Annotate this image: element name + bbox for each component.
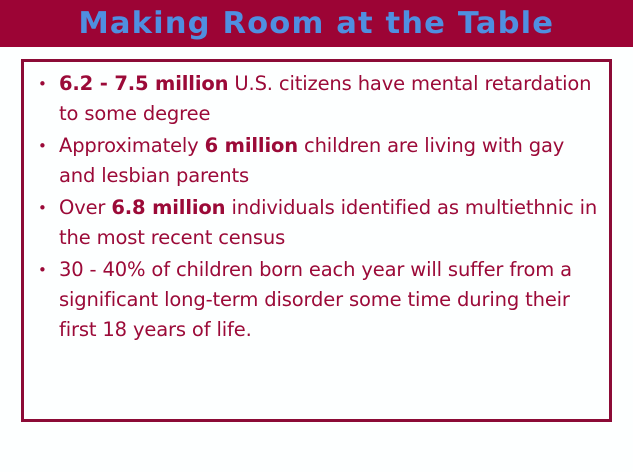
- bullet-dot-icon: •: [38, 69, 56, 99]
- slide: Making Room at the Table • 6.2 - 7.5 mil…: [0, 0, 633, 472]
- bullet-dot-icon: •: [38, 255, 56, 285]
- content-body-box: • 6.2 - 7.5 million U.S. citizens have m…: [21, 59, 612, 422]
- bullet-list: • 6.2 - 7.5 million U.S. citizens have m…: [30, 69, 603, 345]
- title-banner: Making Room at the Table: [0, 0, 633, 47]
- list-item: • Over 6.8 million individuals identifie…: [30, 193, 603, 253]
- slide-title: Making Room at the Table: [79, 9, 555, 39]
- bullet-prefix: Over: [59, 196, 111, 219]
- bullet-emphasis: 6.2 - 7.5 million: [59, 72, 228, 95]
- list-item: • Approximately 6 million children are l…: [30, 131, 603, 191]
- bullet-prefix: Approximately: [59, 134, 205, 157]
- bullet-emphasis: 6.8 million: [111, 196, 225, 219]
- bullet-text: 30 - 40% of children born each year will…: [59, 258, 572, 341]
- bullet-dot-icon: •: [38, 131, 56, 161]
- bullet-emphasis: 6 million: [205, 134, 298, 157]
- list-item: • 30 - 40% of children born each year wi…: [30, 255, 603, 345]
- bullet-text: Over 6.8 million individuals identified …: [59, 196, 597, 249]
- list-item: • 6.2 - 7.5 million U.S. citizens have m…: [30, 69, 603, 129]
- bullet-text: 6.2 - 7.5 million U.S. citizens have men…: [59, 72, 591, 125]
- bullet-text: Approximately 6 million children are liv…: [59, 134, 564, 187]
- bullet-dot-icon: •: [38, 193, 56, 223]
